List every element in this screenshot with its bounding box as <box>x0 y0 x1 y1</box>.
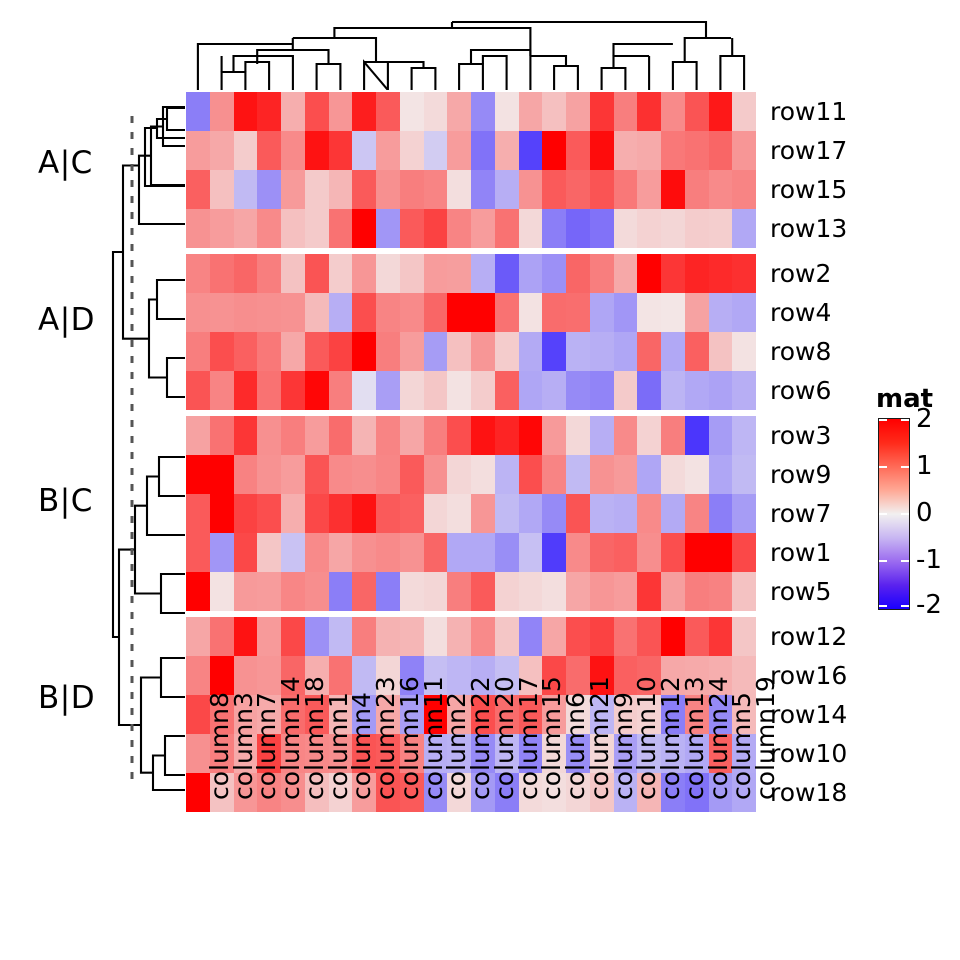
heatmap-cell <box>519 254 543 293</box>
heatmap-cell <box>210 332 234 371</box>
row-split-title-3: B|D <box>38 680 95 716</box>
heatmap-cell <box>257 572 281 611</box>
heatmap-cell <box>471 254 495 293</box>
legend-tick-mark <box>879 466 887 468</box>
heatmap-cell <box>542 293 566 332</box>
heatmap-cell <box>400 455 424 494</box>
heatmap-cell <box>709 332 733 371</box>
heatmap-cell <box>542 92 566 131</box>
heatmap-cell <box>186 416 210 455</box>
heatmap-cell <box>709 293 733 332</box>
heatmap-cell <box>352 416 376 455</box>
heatmap-cell <box>685 170 709 209</box>
heatmap-cell <box>471 170 495 209</box>
row-split-title-0: A|C <box>38 145 93 181</box>
heatmap-cell <box>447 371 471 410</box>
heatmap-cell <box>732 533 756 572</box>
heatmap-cell <box>352 494 376 533</box>
heatmap-cell <box>566 209 590 248</box>
heatmap-cell <box>637 617 661 656</box>
heatmap-cell <box>637 209 661 248</box>
heatmap-cell <box>210 131 234 170</box>
heatmap-cell <box>305 533 329 572</box>
heatmap-cell <box>281 293 305 332</box>
heatmap-cell <box>210 293 234 332</box>
heatmap-cell <box>732 170 756 209</box>
legend-tick-mark <box>901 513 909 515</box>
heatmap-cell <box>305 170 329 209</box>
table-row <box>186 293 756 332</box>
heatmap-cell <box>471 494 495 533</box>
heatmap-cell <box>661 371 685 410</box>
heatmap-cell <box>352 293 376 332</box>
heatmap-cell <box>376 293 400 332</box>
heatmap-cell <box>424 371 448 410</box>
heatmap-cell <box>281 494 305 533</box>
heatmap-cell <box>234 332 258 371</box>
table-row <box>186 170 756 209</box>
legend-tick-mark <box>879 419 887 421</box>
heatmap-cell <box>305 572 329 611</box>
heatmap-cell <box>424 293 448 332</box>
heatmap-cell <box>305 617 329 656</box>
heatmap-cell <box>447 209 471 248</box>
heatmap-cell <box>685 416 709 455</box>
heatmap-cell <box>210 416 234 455</box>
row-label: row12 <box>770 624 847 649</box>
heatmap-cell <box>542 494 566 533</box>
heatmap-cell <box>566 254 590 293</box>
heatmap-cell <box>614 170 638 209</box>
row-dendrogram <box>105 90 187 800</box>
heatmap-cell <box>210 494 234 533</box>
heatmap-cell <box>234 92 258 131</box>
heatmap-cell <box>257 416 281 455</box>
heatmap-cell <box>400 371 424 410</box>
heatmap-cell <box>519 170 543 209</box>
legend-tick-mark <box>879 560 887 562</box>
heatmap-cell <box>732 332 756 371</box>
row-label: row6 <box>770 378 831 403</box>
heatmap-cell <box>329 455 353 494</box>
heatmap-cell <box>210 254 234 293</box>
heatmap-cell <box>519 533 543 572</box>
heatmap-cell <box>685 371 709 410</box>
heatmap-cell <box>471 92 495 131</box>
heatmap-cell <box>329 209 353 248</box>
heatmap-cell <box>495 131 519 170</box>
heatmap-cell <box>637 533 661 572</box>
heatmap-cell <box>471 293 495 332</box>
heatmap-cell <box>447 170 471 209</box>
heatmap-cell <box>614 209 638 248</box>
heatmap-cell <box>566 416 590 455</box>
heatmap-cell <box>186 617 210 656</box>
heatmap-cell <box>281 209 305 248</box>
heatmap-cell <box>709 209 733 248</box>
heatmap-cell <box>281 533 305 572</box>
heatmap-cell <box>281 416 305 455</box>
heatmap-cell <box>637 494 661 533</box>
heatmap-cell <box>590 533 614 572</box>
heatmap-cell <box>661 92 685 131</box>
heatmap-cell <box>661 533 685 572</box>
heatmap-cell <box>186 293 210 332</box>
heatmap-cell <box>566 92 590 131</box>
heatmap-cell <box>590 131 614 170</box>
heatmap-cell <box>424 332 448 371</box>
heatmap-cell <box>519 293 543 332</box>
heatmap-cell <box>709 455 733 494</box>
heatmap-cell <box>542 131 566 170</box>
heatmap-cell <box>210 209 234 248</box>
heatmap-cell <box>614 455 638 494</box>
heatmap-cell <box>281 371 305 410</box>
heatmap-cell <box>685 131 709 170</box>
heatmap-cell <box>495 416 519 455</box>
row-label: row2 <box>770 261 831 286</box>
heatmap-cell <box>566 332 590 371</box>
heatmap-cell <box>210 656 234 695</box>
heatmap-cell <box>400 254 424 293</box>
heatmap-cell <box>210 371 234 410</box>
heatmap-cell <box>661 494 685 533</box>
heatmap-cell <box>186 533 210 572</box>
heatmap-cell <box>400 209 424 248</box>
heatmap-cell <box>566 617 590 656</box>
row-label: row13 <box>770 216 847 241</box>
heatmap-cell <box>329 293 353 332</box>
heatmap-cell <box>186 572 210 611</box>
heatmap-cell <box>186 332 210 371</box>
heatmap-cell <box>732 455 756 494</box>
heatmap-cell <box>400 617 424 656</box>
row-label: row8 <box>770 339 831 364</box>
heatmap-cell <box>637 254 661 293</box>
heatmap-cell <box>590 293 614 332</box>
heatmap-cell <box>305 131 329 170</box>
heatmap-cell <box>305 494 329 533</box>
heatmap-cell <box>234 170 258 209</box>
heatmap-cell <box>566 170 590 209</box>
heatmap-cell <box>400 572 424 611</box>
table-row <box>186 209 756 248</box>
heatmap-cell <box>352 455 376 494</box>
heatmap-cell <box>495 170 519 209</box>
heatmap-cell <box>447 131 471 170</box>
heatmap-cell <box>352 170 376 209</box>
heatmap-figure: A|C A|D B|C B|D <box>0 0 960 960</box>
heatmap-cell <box>495 293 519 332</box>
heatmap-cell <box>685 455 709 494</box>
heatmap-cell <box>424 617 448 656</box>
heatmap-cell <box>257 494 281 533</box>
legend-tick-mark <box>901 560 909 562</box>
heatmap-cell <box>234 209 258 248</box>
heatmap-cell <box>637 92 661 131</box>
row-label: row11 <box>770 99 847 124</box>
row-label: row10 <box>770 741 847 766</box>
heatmap-cell <box>329 572 353 611</box>
heatmap-cell <box>424 416 448 455</box>
heatmap-cell <box>471 131 495 170</box>
heatmap-cell <box>590 254 614 293</box>
heatmap-cell <box>685 332 709 371</box>
heatmap-cell <box>590 416 614 455</box>
heatmap-cell <box>614 371 638 410</box>
heatmap-cell <box>614 572 638 611</box>
heatmap-cell <box>376 572 400 611</box>
heatmap-cell <box>329 371 353 410</box>
legend-tick-label: -2 <box>916 592 942 618</box>
heatmap-cell <box>424 254 448 293</box>
heatmap-cell <box>186 209 210 248</box>
heatmap-cell <box>329 170 353 209</box>
heatmap-cell <box>400 170 424 209</box>
heatmap-cell <box>305 455 329 494</box>
heatmap-cell <box>281 131 305 170</box>
row-label: row5 <box>770 579 831 604</box>
heatmap-cell <box>471 572 495 611</box>
heatmap-cell <box>305 293 329 332</box>
heatmap-cell <box>352 254 376 293</box>
heatmap-cell <box>234 455 258 494</box>
heatmap-cell <box>685 533 709 572</box>
row-label: row3 <box>770 423 831 448</box>
heatmap-cell <box>590 371 614 410</box>
heatmap-cell <box>709 254 733 293</box>
heatmap-cell <box>352 131 376 170</box>
heatmap-cell <box>447 332 471 371</box>
heatmap-cell <box>400 92 424 131</box>
heatmap-cell <box>400 533 424 572</box>
heatmap-cell <box>257 131 281 170</box>
heatmap-cell <box>471 209 495 248</box>
heatmap-cell <box>210 170 234 209</box>
heatmap-cell <box>709 617 733 656</box>
legend-tick-mark <box>901 419 909 421</box>
row-label: row17 <box>770 138 847 163</box>
heatmap-cell <box>329 494 353 533</box>
heatmap-cell <box>424 131 448 170</box>
heatmap-cell <box>495 617 519 656</box>
heatmap-cell <box>281 572 305 611</box>
heatmap-cell <box>447 572 471 611</box>
heatmap-cell <box>329 92 353 131</box>
row-label: row15 <box>770 177 847 202</box>
heatmap-cell <box>590 332 614 371</box>
heatmap-cell <box>732 92 756 131</box>
table-row <box>186 494 756 533</box>
heatmap-cell <box>352 572 376 611</box>
heatmap-cell <box>352 533 376 572</box>
heatmap-cell <box>376 92 400 131</box>
heatmap-cell <box>234 254 258 293</box>
heatmap-cell <box>210 617 234 656</box>
heatmap-cell <box>329 533 353 572</box>
heatmap-cell <box>637 572 661 611</box>
table-row <box>186 617 756 656</box>
heatmap-cell <box>495 371 519 410</box>
heatmap-cell <box>234 656 258 695</box>
heatmap-cell <box>685 572 709 611</box>
heatmap-cell <box>329 332 353 371</box>
heatmap-cell <box>400 131 424 170</box>
table-row <box>186 131 756 170</box>
heatmap-cell <box>376 131 400 170</box>
heatmap-cell <box>614 416 638 455</box>
heatmap-cell <box>424 494 448 533</box>
heatmap-cell <box>542 617 566 656</box>
heatmap-cell <box>732 371 756 410</box>
heatmap-cell <box>519 572 543 611</box>
row-label: row14 <box>770 702 847 727</box>
heatmap-cell <box>542 332 566 371</box>
heatmap-cell <box>352 209 376 248</box>
heatmap-cell <box>709 572 733 611</box>
heatmap-cell <box>519 332 543 371</box>
heatmap-cell <box>400 494 424 533</box>
heatmap-cell <box>661 617 685 656</box>
heatmap-cell <box>732 254 756 293</box>
legend-tick-label: 2 <box>916 406 933 432</box>
heatmap-cell <box>685 293 709 332</box>
table-row <box>186 332 756 371</box>
heatmap-cell <box>614 494 638 533</box>
heatmap-cell <box>637 131 661 170</box>
heatmap-cell <box>709 416 733 455</box>
heatmap-cell <box>519 131 543 170</box>
heatmap-cell <box>542 371 566 410</box>
heatmap-cell <box>305 92 329 131</box>
heatmap-cell <box>495 455 519 494</box>
heatmap-cell <box>542 170 566 209</box>
table-row <box>186 416 756 455</box>
heatmap-block-b-c <box>186 416 756 611</box>
legend-tick-mark <box>901 466 909 468</box>
heatmap-cell <box>376 533 400 572</box>
heatmap-cell <box>234 416 258 455</box>
heatmap-cell <box>685 209 709 248</box>
heatmap-cell <box>614 92 638 131</box>
heatmap-cell <box>661 416 685 455</box>
heatmap-cell <box>566 131 590 170</box>
legend-tick-label: 0 <box>916 500 933 526</box>
heatmap-cell <box>305 416 329 455</box>
heatmap-cell <box>210 92 234 131</box>
heatmap-cell <box>685 617 709 656</box>
heatmap-cell <box>424 209 448 248</box>
heatmap-cell <box>234 572 258 611</box>
heatmap-cell <box>376 617 400 656</box>
heatmap-cell <box>637 170 661 209</box>
heatmap-cell <box>186 371 210 410</box>
heatmap-cell <box>637 293 661 332</box>
heatmap-cell <box>329 617 353 656</box>
legend-tick-label: 1 <box>916 453 933 479</box>
heatmap-cell <box>186 92 210 131</box>
heatmap-cell <box>186 494 210 533</box>
heatmap-cell <box>447 455 471 494</box>
heatmap-cell <box>519 455 543 494</box>
heatmap-cell <box>709 494 733 533</box>
heatmap-cell <box>352 371 376 410</box>
heatmap-cell <box>352 92 376 131</box>
heatmap-cell <box>542 533 566 572</box>
heatmap-cell <box>590 92 614 131</box>
heatmap-cell <box>495 209 519 248</box>
heatmap-cell <box>281 455 305 494</box>
heatmap-cell <box>566 494 590 533</box>
heatmap-cell <box>352 617 376 656</box>
heatmap-cell <box>519 494 543 533</box>
heatmap-cell <box>376 209 400 248</box>
heatmap-cell <box>685 494 709 533</box>
heatmap-cell <box>447 92 471 131</box>
heatmap-cell <box>447 416 471 455</box>
heatmap-cell <box>447 293 471 332</box>
heatmap-cell <box>257 293 281 332</box>
heatmap-cell <box>732 617 756 656</box>
heatmap-block-a-c <box>186 92 756 248</box>
heatmap-cell <box>542 416 566 455</box>
heatmap-cell <box>495 494 519 533</box>
heatmap-cell <box>519 371 543 410</box>
heatmap-cell <box>376 371 400 410</box>
heatmap-block-a-d <box>186 254 756 410</box>
heatmap-cell <box>186 170 210 209</box>
heatmap-cell <box>376 254 400 293</box>
heatmap-cell <box>637 455 661 494</box>
heatmap-cell <box>471 332 495 371</box>
heatmap-cell <box>614 293 638 332</box>
heatmap-cell <box>566 371 590 410</box>
heatmap-cell <box>495 533 519 572</box>
heatmap-cell <box>637 332 661 371</box>
heatmap-cell <box>376 332 400 371</box>
heatmap-cell <box>424 170 448 209</box>
column-dendrogram <box>186 6 756 90</box>
heatmap-cell <box>732 209 756 248</box>
heatmap-cell <box>281 332 305 371</box>
heatmap-cell <box>614 533 638 572</box>
table-row <box>186 533 756 572</box>
heatmap-cell <box>637 416 661 455</box>
heatmap-cell <box>614 617 638 656</box>
heatmap-cell <box>447 533 471 572</box>
heatmap-cell <box>709 371 733 410</box>
heatmap-cell <box>305 254 329 293</box>
heatmap-cell <box>376 455 400 494</box>
heatmap-cell <box>542 455 566 494</box>
table-row <box>186 572 756 611</box>
heatmap-cell <box>186 131 210 170</box>
heatmap-cell <box>257 455 281 494</box>
heatmap-cell <box>186 254 210 293</box>
heatmap-cell <box>305 209 329 248</box>
heatmap-cell <box>376 170 400 209</box>
heatmap-cell <box>614 254 638 293</box>
heatmap-cell <box>329 254 353 293</box>
heatmap-cell <box>329 131 353 170</box>
heatmap-cell <box>305 332 329 371</box>
heatmap-cell <box>732 494 756 533</box>
heatmap-cell <box>732 572 756 611</box>
heatmap-cell <box>257 617 281 656</box>
heatmap-cell <box>519 209 543 248</box>
heatmap-cell <box>447 494 471 533</box>
row-label: row18 <box>770 780 847 805</box>
